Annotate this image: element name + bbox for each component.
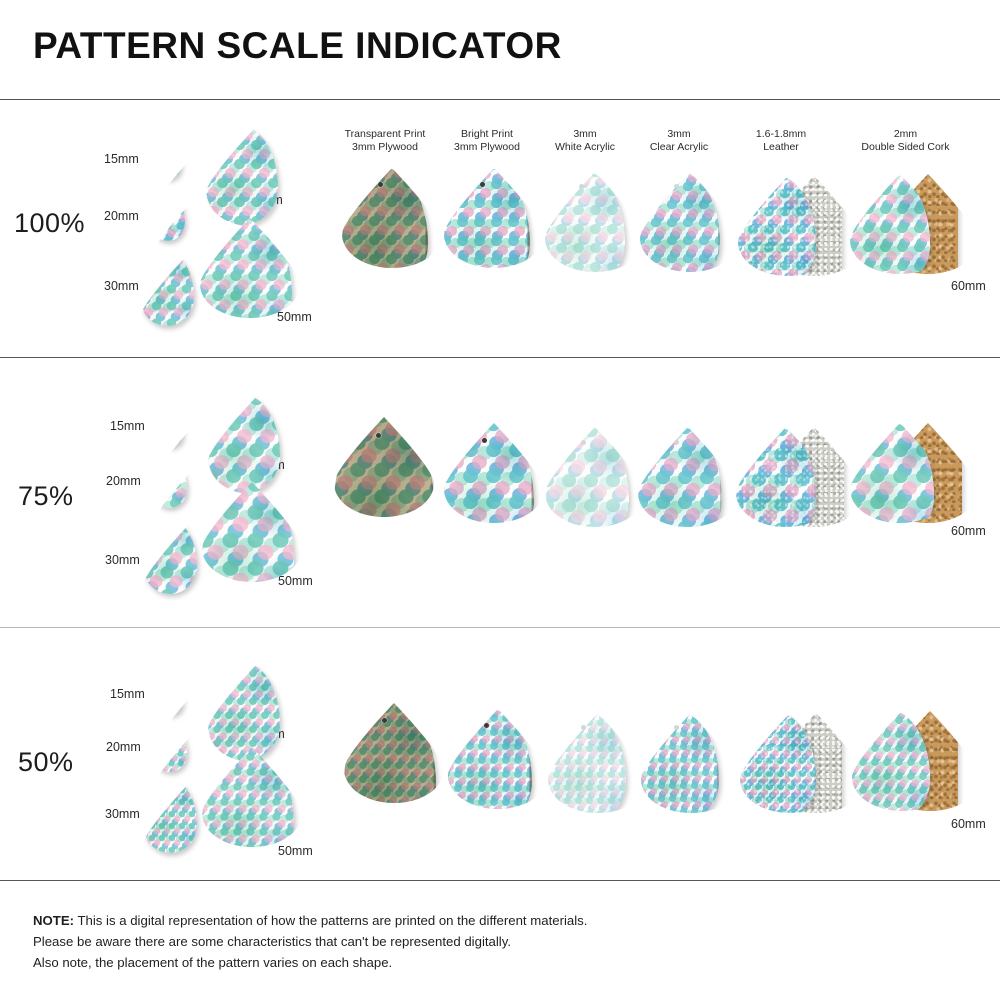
material-drop-white-acrylic	[545, 172, 625, 286]
sample-drop-30mm	[140, 252, 194, 326]
material-drop-leather	[738, 176, 816, 286]
sample-drop-15mm	[155, 143, 181, 179]
hole-icon	[376, 433, 381, 438]
material-drop-clear-acrylic	[638, 427, 722, 545]
hole-icon	[484, 723, 489, 728]
material-drop-leather	[740, 713, 816, 821]
scale-row-100: 100% 15mm 20mm 30mm 40mm 50mm 60mm	[0, 0, 1000, 357]
material-drop-bright-print-plywood	[448, 709, 532, 827]
scale-row-75: 75% 15mm 20mm 30mm 40mm 50mm 60mm	[0, 357, 1000, 627]
size-label-30mm: 30mm	[104, 279, 139, 293]
hole-icon	[581, 440, 586, 445]
material-drop-bright-print-plywood	[444, 423, 534, 549]
scale-label-100: 100%	[14, 208, 85, 239]
material-drop-transparent-print-plywood	[334, 417, 434, 557]
material-drop-clear-acrylic	[641, 713, 719, 823]
footer-note-line-2: Please be aware there are some character…	[33, 931, 587, 952]
sample-drop-50mm	[202, 482, 294, 606]
sample-drop-20mm	[152, 724, 187, 772]
hole-icon	[579, 184, 584, 189]
material-drop-cork	[852, 711, 930, 821]
hole-icon	[674, 184, 679, 189]
hole-icon	[378, 182, 383, 187]
hole-icon	[581, 725, 586, 730]
material-drop-transparent-print-plywood	[344, 703, 436, 833]
sample-drop-15mm	[157, 679, 183, 715]
sample-drop-15mm	[157, 411, 183, 447]
material-drop-cork	[850, 423, 934, 541]
size-label-30mm: 30mm	[105, 553, 140, 567]
size-label-20mm: 20mm	[106, 474, 141, 488]
hole-icon	[382, 718, 387, 723]
material-drop-clear-acrylic	[640, 172, 720, 286]
sample-drop-50mm	[200, 218, 292, 342]
sample-drop-30mm	[143, 779, 197, 853]
sample-drop-20mm	[152, 460, 187, 508]
size-label-15mm: 15mm	[110, 419, 145, 433]
material-drop-white-acrylic	[545, 427, 629, 545]
material-drop-leather	[736, 427, 816, 541]
footer-note-line-1: NOTE: This is a digital representation o…	[33, 910, 587, 931]
divider-row-3	[0, 880, 1000, 881]
material-drop-cork	[850, 174, 930, 288]
hole-icon	[480, 182, 485, 187]
sample-drop-40mm	[206, 127, 278, 225]
sample-drop-20mm	[150, 193, 185, 241]
scale-label-50: 50%	[18, 747, 74, 778]
footer-note-line-3: Also note, the placement of the pattern …	[33, 952, 587, 973]
scale-label-75: 75%	[18, 481, 74, 512]
size-label-20mm: 20mm	[106, 740, 141, 754]
sample-drop-40mm	[208, 395, 280, 493]
size-label-20mm: 20mm	[104, 209, 139, 223]
pattern-scale-indicator-page: PATTERN SCALE INDICATOR Transparent Prin…	[0, 0, 1000, 1000]
size-label-15mm: 15mm	[104, 152, 139, 166]
size-label-15mm: 15mm	[110, 687, 145, 701]
footer-note-label: NOTE:	[33, 913, 74, 928]
sample-drop-30mm	[143, 520, 197, 594]
material-drop-transparent-print-plywood	[342, 168, 428, 290]
material-drop-white-acrylic	[548, 713, 626, 823]
material-drop-bright-print-plywood	[444, 168, 530, 290]
size-label-30mm: 30mm	[105, 807, 140, 821]
hole-icon	[674, 725, 679, 730]
hole-icon	[482, 438, 487, 443]
sample-drop-50mm	[202, 747, 294, 871]
scale-row-50: 50% 15mm 20mm 30mm 40mm 50mm 60mm	[0, 627, 1000, 880]
footer-note: NOTE: This is a digital representation o…	[33, 910, 587, 973]
hole-icon	[674, 440, 679, 445]
footer-note-text-1: This is a digital representation of how …	[74, 913, 587, 928]
